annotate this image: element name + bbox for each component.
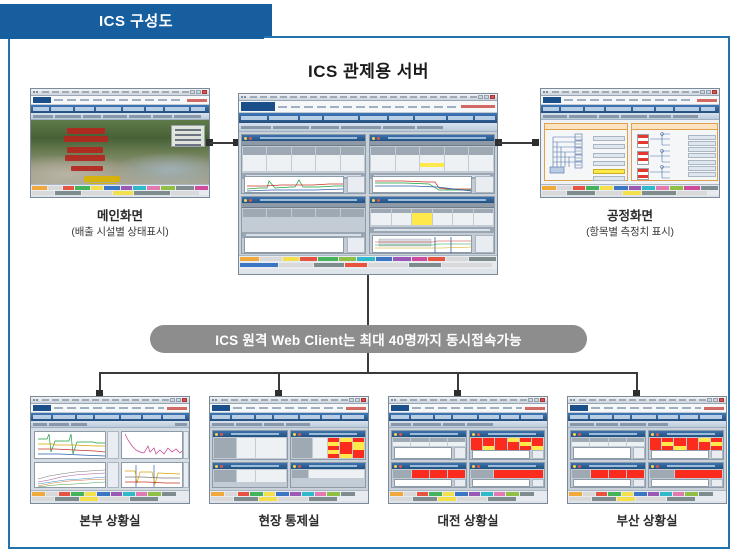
- trend-chart-3-legend: [107, 462, 119, 488]
- titlebar: [31, 397, 189, 404]
- client-trend-charts-screenshot: [30, 396, 190, 504]
- brand-accent: [697, 99, 717, 102]
- submenu-bar: [541, 113, 719, 120]
- titlebar: [210, 397, 368, 404]
- chart-legend: [347, 237, 365, 253]
- photo-legend: [171, 125, 205, 147]
- client-2-label: 현장 통제실: [259, 514, 320, 528]
- panel-header: [632, 124, 717, 130]
- chart-legend: [711, 450, 723, 459]
- table-panel-top-right: [290, 430, 366, 460]
- panel-header: [291, 431, 365, 437]
- titlebar: [389, 397, 547, 404]
- submenu-bar: [568, 421, 726, 428]
- brand-bar: [31, 96, 209, 105]
- chart-legend: [633, 447, 645, 459]
- client-3-caption: 대전 상황실: [388, 512, 548, 530]
- titlebar-text: [42, 91, 189, 93]
- page-title: ICS 구성도: [99, 10, 173, 31]
- table-panel-bottom-left: [212, 462, 288, 488]
- ics-control-server-screenshot: [238, 93, 498, 275]
- table-panel-top-left: [212, 430, 288, 460]
- window-controls: [478, 95, 495, 99]
- chart-legend: [475, 235, 494, 253]
- panel-header: [649, 463, 723, 469]
- brand-bar: [31, 404, 189, 413]
- panel-header: [470, 463, 544, 469]
- chart-legend: [711, 479, 723, 487]
- submenu-bar: [389, 421, 547, 428]
- submenu-bar: [210, 421, 368, 428]
- frame-title-overlap: [0, 36, 264, 39]
- menu-bar: [239, 113, 497, 123]
- panel-header: [545, 124, 627, 130]
- arrow-cap-right-process: [532, 139, 539, 146]
- menu-bar: [210, 413, 368, 421]
- window-icon: [241, 96, 246, 98]
- trend-chart-svg: [373, 177, 473, 194]
- brand-accent: [167, 407, 187, 410]
- main-screen-label: 메인화면: [97, 209, 143, 223]
- trend-chart: [651, 479, 709, 487]
- client-4-caption: 부산 상황실: [567, 512, 727, 530]
- connector-server-to-banner: [367, 275, 369, 325]
- panel-header: [291, 463, 365, 469]
- web-client-banner: ICS 원격 Web Client는 최대 40명까지 동시접속가능: [150, 325, 587, 353]
- process-screen-caption: 공정화면 (항목별 측정치 표시): [540, 207, 720, 240]
- titlebar: [239, 94, 497, 101]
- data-panel-bottom-left: [241, 196, 366, 254]
- window-controls: [190, 90, 207, 94]
- menu-bar: [31, 105, 209, 113]
- chart-legend: [454, 447, 466, 459]
- status-bar: [31, 184, 209, 195]
- app-logo: [570, 405, 588, 411]
- brand-bar: [210, 404, 368, 413]
- titlebar: [31, 89, 209, 96]
- submenu-bar: [31, 113, 209, 120]
- ics-architecture-diagram: ICS 구성도 ICS 관제용 서버: [0, 0, 737, 557]
- trend-chart-2-legend: [183, 431, 189, 459]
- trend-chart-2: [121, 431, 183, 459]
- chart-legend: [532, 479, 544, 487]
- trend-chart-1: [34, 431, 106, 459]
- client-3-label: 대전 상황실: [438, 514, 499, 528]
- process-diagram-left: [544, 123, 628, 181]
- submenu-bar: [239, 123, 497, 132]
- trend-chart: [394, 447, 452, 459]
- window-controls: [349, 398, 366, 402]
- connector-banner-down: [367, 353, 369, 373]
- status-bar: [568, 490, 726, 501]
- process-screen-sublabel: (항목별 측정치 표시): [540, 225, 720, 240]
- brand-bar: [541, 96, 719, 105]
- screen-body: [31, 120, 209, 195]
- brand-bar: [239, 101, 497, 113]
- screen-body: [541, 120, 719, 195]
- panel-header: [571, 431, 645, 437]
- process-diagram-right: [631, 123, 718, 181]
- table-panel-bottom-right: [290, 462, 366, 488]
- brand-accent: [525, 407, 545, 410]
- status-bar: [31, 490, 189, 501]
- screen-body: [210, 428, 368, 501]
- client-2-caption: 현장 통제실: [209, 512, 369, 530]
- client-4-label: 부산 상황실: [617, 514, 678, 528]
- window-icon: [212, 399, 217, 401]
- window-icon: [391, 399, 396, 401]
- alarm-panel-top-right: [648, 430, 724, 460]
- panel-subheader: [370, 141, 494, 146]
- trend-chart-svg: [373, 236, 473, 254]
- brand-links: [591, 407, 701, 409]
- window-controls: [707, 398, 724, 402]
- titlebar: [568, 397, 726, 404]
- trend-chart: [472, 479, 530, 487]
- titlebar-text: [250, 96, 477, 98]
- brand-bar: [389, 404, 547, 413]
- menu-bar: [541, 105, 719, 113]
- brand-accent: [704, 407, 724, 410]
- toolbar: [31, 421, 189, 428]
- app-logo: [241, 102, 275, 111]
- window-icon: [543, 91, 548, 93]
- app-logo: [33, 97, 51, 103]
- screen-body: [31, 428, 189, 501]
- diagram-title-band: ICS 구성도: [0, 4, 272, 37]
- window-icon: [33, 91, 38, 93]
- panel-header: [213, 431, 287, 437]
- chart-legend: [532, 450, 544, 459]
- trend-chart: [372, 235, 472, 253]
- status-bar: [389, 490, 547, 501]
- panel-subheader: [370, 203, 494, 208]
- app-logo: [543, 97, 561, 103]
- titlebar-text: [221, 399, 348, 401]
- screen-body: [389, 428, 547, 501]
- titlebar: [541, 89, 719, 96]
- trend-chart: [394, 479, 452, 487]
- panel-subheader: [242, 141, 365, 146]
- trend-chart: [372, 176, 472, 193]
- brand-accent: [346, 407, 366, 410]
- chart-legend: [454, 479, 466, 487]
- titlebar-text: [552, 91, 699, 93]
- alarm-panel-bottom-left: [570, 462, 646, 488]
- status-bar: [239, 255, 497, 269]
- panel-header: [649, 431, 723, 437]
- data-panel-top-left: [241, 134, 366, 194]
- chart-legend: [475, 176, 494, 193]
- data-panel-bottom-right: [369, 196, 495, 254]
- trend-chart-svg: [245, 177, 345, 194]
- alarm-panel-bottom-right: [648, 462, 724, 488]
- main-screen-caption: 메인화면 (배출 시설별 상태표시): [30, 207, 210, 240]
- app-logo: [33, 405, 51, 411]
- process-screen-screenshot: [540, 88, 720, 198]
- window-controls: [170, 398, 187, 402]
- brand-accent: [187, 99, 207, 102]
- screen-body: [239, 132, 497, 269]
- panel-header: [213, 463, 287, 469]
- trend-chart: [244, 237, 344, 253]
- titlebar-text: [579, 399, 706, 401]
- trend-chart-4-legend: [183, 462, 189, 488]
- client-alarm-grid-2-screenshot: [567, 396, 727, 504]
- trend-chart: [573, 447, 631, 459]
- chart-legend: [633, 479, 645, 487]
- chart-legend: [347, 176, 365, 193]
- main-screen-sublabel: (배출 시설별 상태표시): [30, 225, 210, 240]
- trend-chart-3: [34, 462, 106, 488]
- connector-bus-horizontal: [99, 372, 636, 374]
- trend-chart-3-svg: [35, 463, 107, 489]
- titlebar-text: [42, 399, 169, 401]
- brand-links: [233, 407, 343, 409]
- trend-chart-1-legend: [107, 431, 119, 459]
- brand-links: [564, 99, 694, 101]
- menu-bar: [389, 413, 547, 421]
- alarm-panel-bottom-left: [391, 462, 467, 488]
- panel-header: [470, 431, 544, 437]
- client-data-tables-screenshot: [209, 396, 369, 504]
- client-1-label: 본부 상황실: [80, 514, 141, 528]
- trend-chart-2-svg: [122, 432, 184, 460]
- brand-links: [54, 407, 164, 409]
- brand-links: [278, 106, 458, 108]
- chart-header: [370, 227, 494, 233]
- app-logo: [212, 405, 230, 411]
- trend-chart-1-svg: [35, 432, 107, 460]
- trend-chart-4: [121, 462, 183, 488]
- data-panel-top-right: [369, 134, 495, 194]
- status-bar: [210, 490, 368, 501]
- window-controls: [528, 398, 545, 402]
- client-1-caption: 본부 상황실: [30, 512, 190, 530]
- alarm-panel-top-right: [469, 430, 545, 460]
- brand-bar: [568, 404, 726, 413]
- client-alarm-grid-screenshot: [388, 396, 548, 504]
- screen-body: [568, 428, 726, 501]
- panel-header: [392, 463, 466, 469]
- menu-bar: [568, 413, 726, 421]
- main-screen-screenshot: [30, 88, 210, 198]
- trend-chart: [573, 479, 631, 487]
- status-bar: [541, 184, 719, 195]
- titlebar-text: [400, 399, 527, 401]
- window-icon: [33, 399, 38, 401]
- brand-accent: [461, 105, 495, 108]
- window-controls: [700, 90, 717, 94]
- alarm-panel-bottom-right: [469, 462, 545, 488]
- trend-chart: [244, 176, 344, 193]
- trend-chart: [472, 450, 530, 459]
- menu-bar: [31, 413, 189, 421]
- app-logo: [391, 405, 409, 411]
- web-client-banner-text: ICS 원격 Web Client는 최대 40명까지 동시접속가능: [215, 329, 521, 349]
- alarm-panel-top-left: [391, 430, 467, 460]
- panel-header: [571, 463, 645, 469]
- process-screen-label: 공정화면: [607, 209, 653, 223]
- trend-chart-4-svg: [122, 463, 184, 489]
- trend-chart: [651, 450, 709, 459]
- aerial-site-photo: [31, 120, 209, 184]
- server-title: ICS 관제용 서버: [0, 57, 737, 82]
- window-icon: [570, 399, 575, 401]
- alarm-panel-top-left: [570, 430, 646, 460]
- brand-links: [54, 99, 184, 101]
- brand-links: [412, 407, 522, 409]
- panel-header: [392, 431, 466, 437]
- panel-subheader: [242, 203, 365, 208]
